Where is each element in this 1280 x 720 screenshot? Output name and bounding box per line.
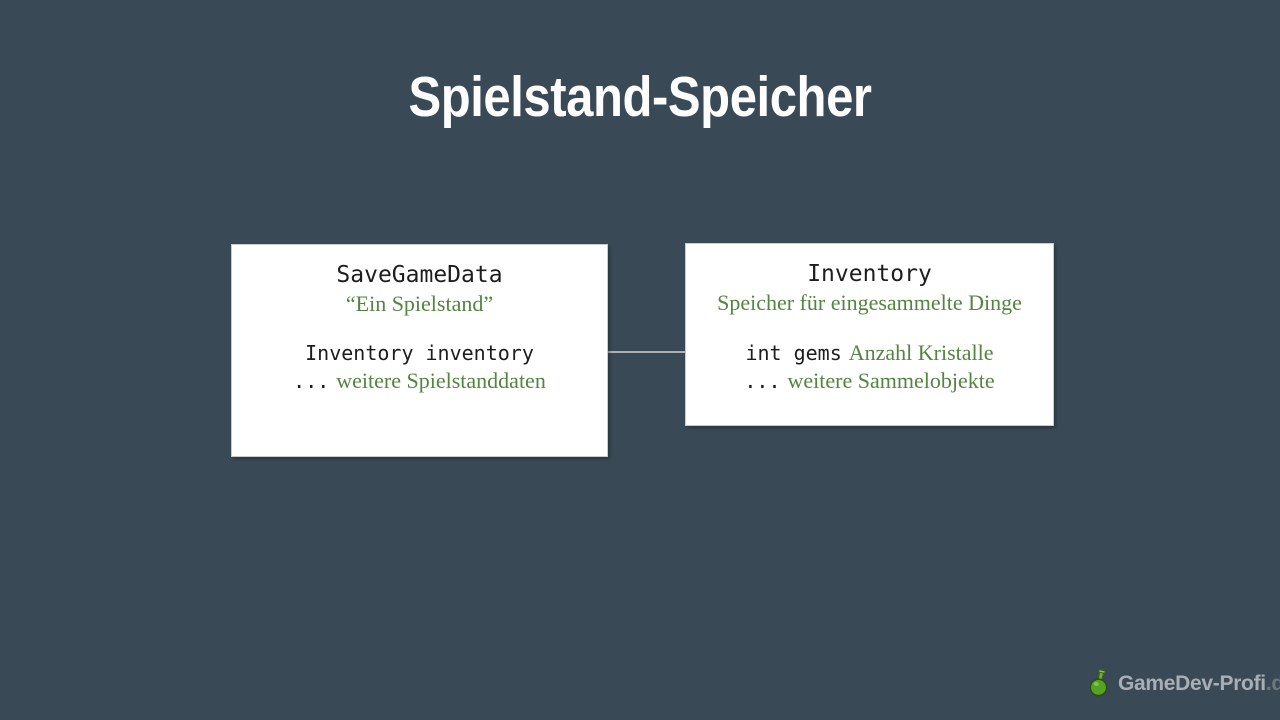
savegamedata-field-more-code: ...	[293, 369, 329, 393]
savegamedata-field-more: ...weitere Spielstanddaten	[232, 367, 607, 395]
inventory-field-more: ...weitere Sammelobjekte	[686, 367, 1053, 395]
watermark-text: GameDev-Profi.de	[1118, 672, 1280, 696]
inventory-field-more-comment: weitere Sammelobjekte	[788, 368, 995, 393]
watermark-logo: GameDev-Profi.de	[1086, 669, 1280, 699]
inventory-field-gems-code: int gems	[745, 341, 841, 365]
class-diagram: SaveGameData “Ein Spielstand” Inventory …	[0, 0, 1280, 720]
inventory-card[interactable]: Inventory Speicher für eingesammelte Din…	[685, 243, 1054, 426]
savegamedata-field-more-comment: weitere Spielstanddaten	[336, 368, 546, 393]
inventory-field-gems: int gemsAnzahl Kristalle	[686, 339, 1053, 367]
inventory-field-gems-comment: Anzahl Kristalle	[849, 340, 994, 365]
watermark-tld: .de	[1266, 672, 1280, 695]
savegamedata-card[interactable]: SaveGameData “Ein Spielstand” Inventory …	[231, 244, 608, 457]
savegamedata-field-inventory: Inventory inventory	[232, 340, 607, 367]
savegamedata-field-list: Inventory inventory ...weitere Spielstan…	[232, 340, 607, 395]
inventory-card-title: Inventory	[686, 260, 1053, 288]
potion-flask-icon	[1086, 669, 1112, 699]
savegamedata-card-subtitle: “Ein Spielstand”	[232, 290, 607, 317]
savegamedata-field-inventory-code: Inventory inventory	[305, 341, 534, 365]
watermark-site-name: GameDev-Profi	[1118, 672, 1266, 695]
inventory-field-list: int gemsAnzahl Kristalle ...weitere Samm…	[686, 339, 1053, 395]
savegamedata-card-title: SaveGameData	[232, 261, 607, 289]
inventory-field-more-code: ...	[744, 369, 780, 393]
inventory-card-subtitle: Speicher für eingesammelte Dinge	[686, 289, 1053, 316]
